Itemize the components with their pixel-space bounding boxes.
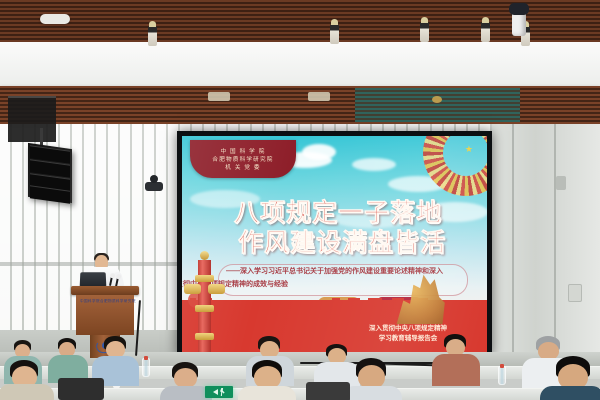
ceiling-access-panel: [308, 92, 330, 101]
podium-front-text: 中国科学院合肥物质科学研究院: [80, 299, 132, 304]
smoke-detector-icon: [40, 14, 70, 24]
star-icon: ★: [465, 145, 473, 154]
line-array-speaker-icon: [28, 143, 72, 203]
water-bottle-icon: [142, 358, 150, 377]
side-monitor-icon: [556, 176, 566, 190]
organization-badge: 中 国 科 学 院 合肥物质科学研究院 机 关 党 委: [190, 140, 296, 178]
ceiling-spotlight-icon: [330, 24, 339, 44]
ceiling-light-dot: [432, 96, 442, 103]
slide-title-line-1: 八项规定一子落地: [234, 198, 484, 228]
huabiao-pillar-graphic: [188, 252, 222, 352]
ceiling-spotlight-icon: [420, 22, 429, 42]
exit-sign-icon: [205, 386, 233, 398]
ceiling-spotlight-icon: [481, 22, 490, 42]
ceiling-teal-reflection: [355, 88, 520, 122]
right-wall-column: [492, 124, 600, 356]
wall-camera-icon: [145, 182, 163, 191]
org-line-3: 机 关 党 委: [225, 164, 260, 172]
podium-laptop-icon[interactable]: [80, 272, 107, 287]
bottom-banner-line-1: 深入贯彻中央八项规定精神: [328, 324, 487, 334]
org-line-1: 中 国 科 学 院: [221, 148, 266, 156]
ceiling-spotlight-icon: [148, 26, 157, 46]
water-bottle-icon: [498, 366, 506, 385]
slide-title-block: 八项规定一子落地 作风建设满盘皆活: [234, 198, 484, 258]
org-line-2: 合肥物质科学研究院: [212, 156, 273, 164]
sunburst-inner-circle: [443, 136, 487, 176]
slide-canvas: ★ 中 国 科 学 院 合肥物质科学研究院 机 关 党 委 八项规定一子落地 作…: [182, 136, 487, 352]
ceiling-access-panel: [208, 92, 230, 101]
wall-switch-plate[interactable]: [568, 284, 582, 302]
slide-title-line-2: 作风建设满盘皆活: [238, 228, 484, 258]
upper-left-dark-opening: [8, 96, 56, 142]
chair-back: [306, 382, 350, 400]
chair-back: [58, 378, 104, 400]
slide-subtitle-line-1: ——深入学习习近平总书记关于加强党的作风建设重要论述精神和深入: [226, 266, 443, 277]
conference-hall-photo: ★ 中 国 科 学 院 合肥物质科学研究院 机 关 党 委 八项规定一子落地 作…: [0, 0, 600, 400]
ceiling-white-band: [0, 42, 600, 86]
cloud-shape: [302, 144, 336, 160]
running-person-icon: [220, 388, 226, 396]
cloud-shape: [352, 158, 396, 171]
ceiling-projector-spot-icon: [512, 12, 526, 36]
led-presentation-screen[interactable]: ★ 中 国 科 学 院 合肥物质科学研究院 机 关 党 委 八项规定一子落地 作…: [177, 131, 492, 357]
exit-arrow-icon: [213, 389, 218, 395]
